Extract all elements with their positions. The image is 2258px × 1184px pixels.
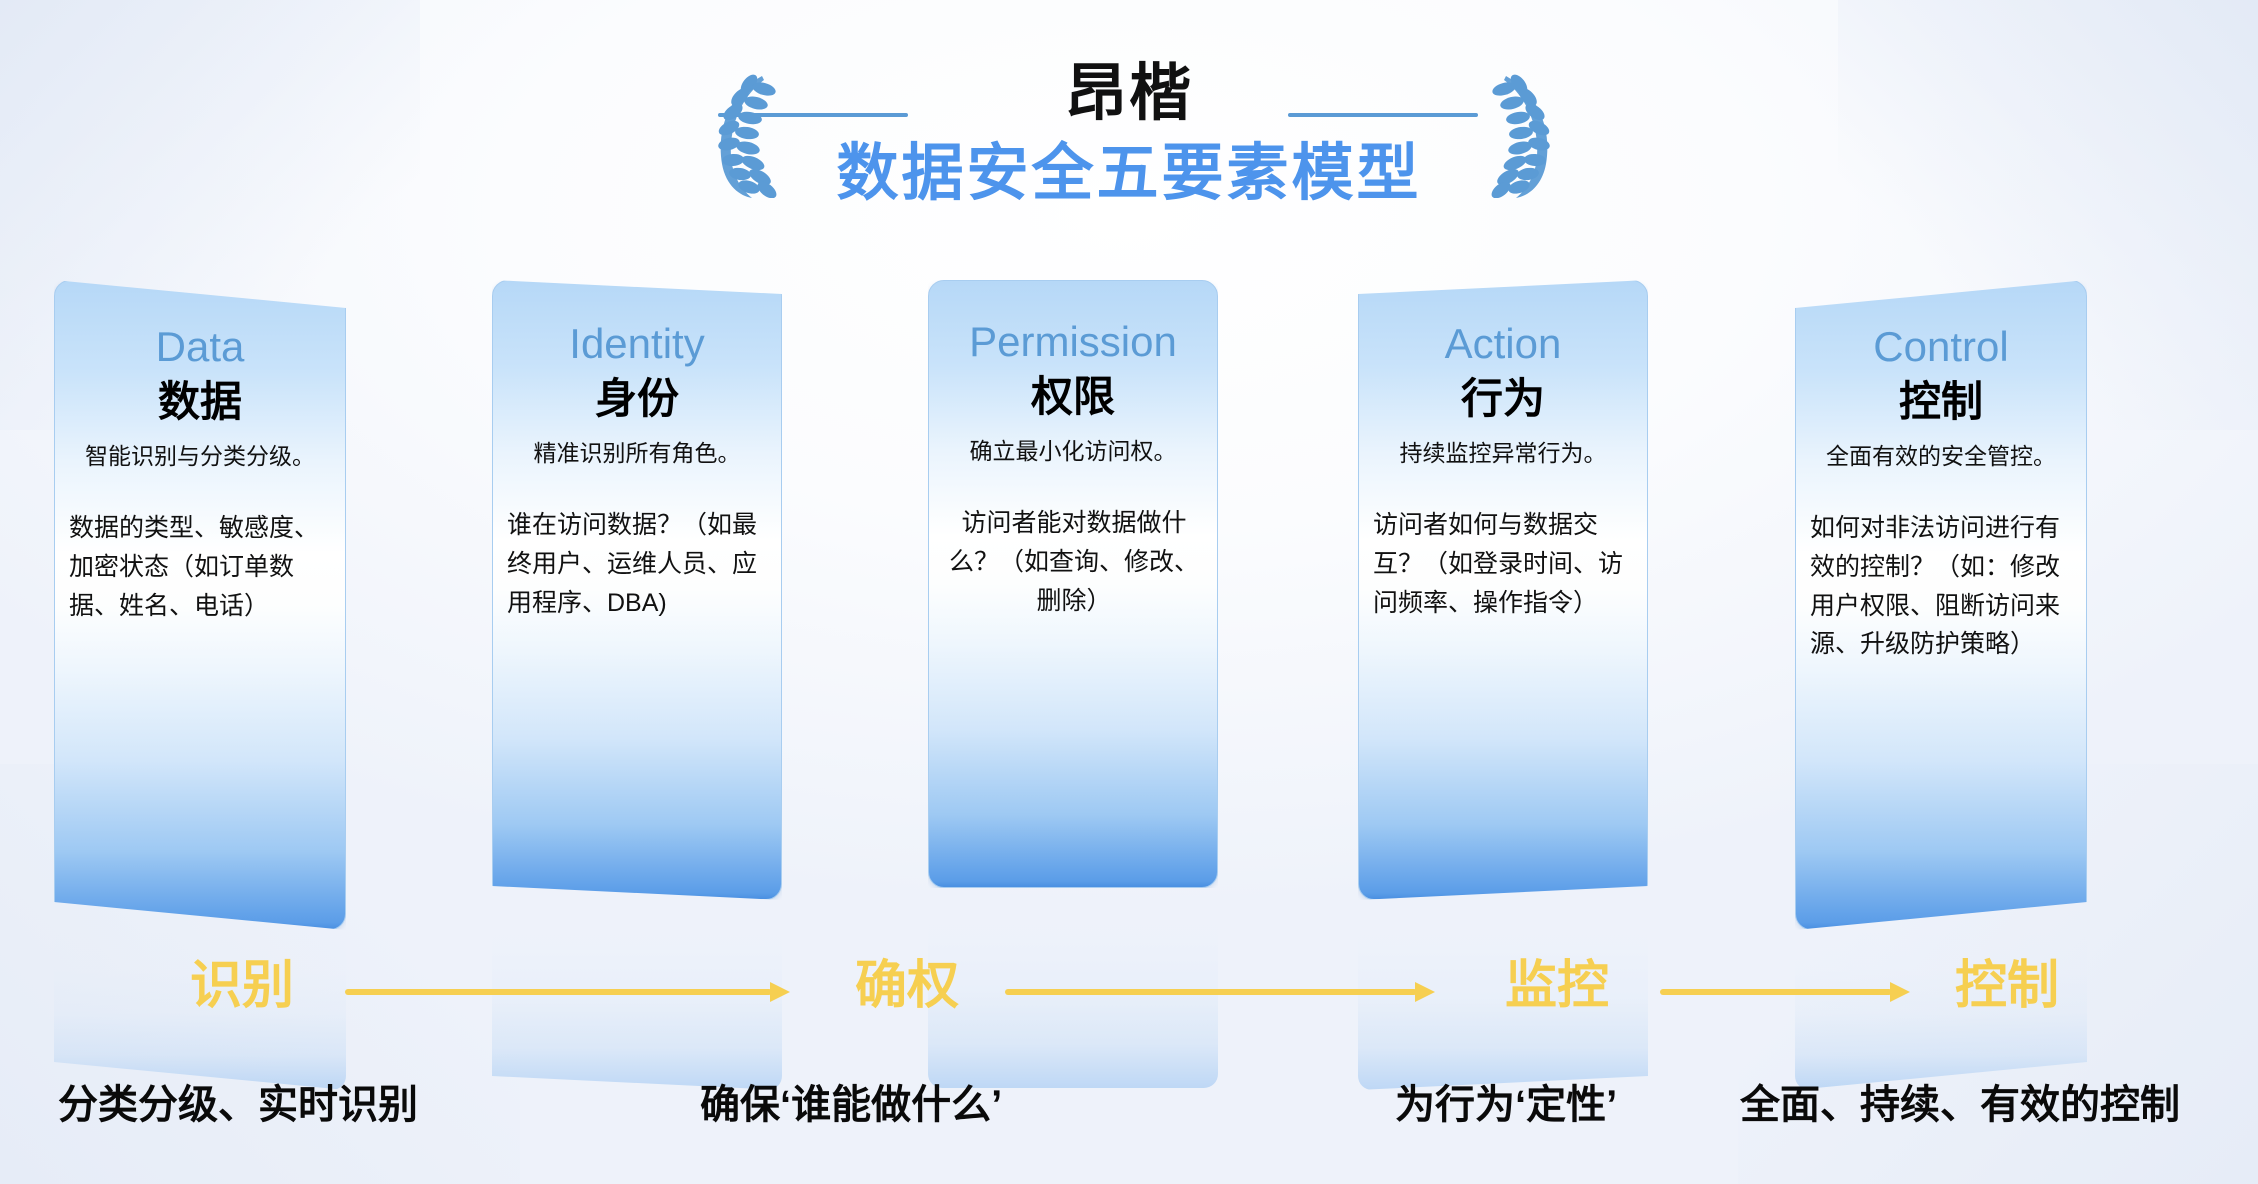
caption-text: 分类分级、实时识别 [58, 1085, 418, 1125]
flow-step-label: 确权 [855, 960, 959, 1012]
card-body: Action行为持续监控异常行为。访问者如何与数据交互？（如登录时间、访问频率、… [1359, 281, 1647, 899]
flow-arrow-icon [1005, 982, 1435, 1002]
card-surface: Action行为持续监控异常行为。访问者如何与数据交互？（如登录时间、访问频率、… [1358, 280, 1648, 900]
caption-text: 为行为‘定性’ [1395, 1085, 1617, 1125]
arrow-shaft [345, 989, 772, 995]
flow-step-label: 控制 [1955, 960, 2059, 1012]
arrow-head [1890, 982, 1910, 1002]
title-block: 昂楷 数据安全五要素模型 [0, 18, 2258, 198]
element-cards-row: Data数据智能识别与分类分级。数据的类型、敏感度、加密状态（如订单数据、姓名、… [0, 280, 2258, 940]
page-subtitle: 数据安全五要素模型 [0, 143, 2258, 205]
card-lead-text: 智能识别与分类分级。 [55, 441, 345, 472]
card-title-en: Data [55, 326, 345, 368]
caption-text: 全面、持续、有效的控制 [1740, 1085, 2180, 1125]
flow-arrow-icon [1660, 982, 1910, 1002]
card-lead-text: 全面有效的安全管控。 [1796, 441, 2086, 472]
process-flow-row: 识别确权监控控制 [0, 960, 2258, 1060]
card-title-en: Action [1359, 323, 1647, 365]
card-body: Permission权限确立最小化访问权。访问者能对数据做什么？（如查询、修改、… [929, 281, 1217, 887]
brand-title: 昂楷 [0, 63, 2258, 125]
flow-arrow-icon [345, 982, 790, 1002]
card-body: Data数据智能识别与分类分级。数据的类型、敏感度、加密状态（如订单数据、姓名、… [55, 281, 345, 929]
card-surface: Control控制全面有效的安全管控。如何对非法访问进行有效的控制？（如：修改用… [1795, 280, 2087, 930]
caption-text: 确保‘谁能做什么’ [700, 1085, 1002, 1125]
card-title-cn: 控制 [1796, 381, 2086, 423]
card-title-en: Permission [929, 321, 1217, 363]
card-detail-text: 访问者如何与数据交互？（如登录时间、访问频率、操作指令） [1373, 506, 1635, 622]
arrow-shaft [1005, 989, 1417, 995]
card-lead-text: 确立最小化访问权。 [929, 436, 1217, 467]
arrow-shaft [1660, 989, 1892, 995]
card-detail-text: 数据的类型、敏感度、加密状态（如订单数据、姓名、电话） [69, 509, 333, 625]
element-card[interactable]: Identity身份精准识别所有角色。谁在访问数据？（如最终用户、运维人员、应用… [492, 280, 782, 900]
card-lead-text: 持续监控异常行为。 [1359, 438, 1647, 469]
element-card[interactable]: Permission权限确立最小化访问权。访问者能对数据做什么？（如查询、修改、… [928, 280, 1218, 888]
card-title-en: Identity [493, 323, 781, 365]
element-card[interactable]: Control控制全面有效的安全管控。如何对非法访问进行有效的控制？（如：修改用… [1795, 280, 2087, 930]
caption-row: 分类分级、实时识别确保‘谁能做什么’为行为‘定性’全面、持续、有效的控制 [0, 1085, 2258, 1155]
card-surface: Permission权限确立最小化访问权。访问者能对数据做什么？（如查询、修改、… [928, 280, 1218, 888]
card-title-en: Control [1796, 326, 2086, 368]
card-detail-text: 访问者能对数据做什么？（如查询、修改、删除） [937, 504, 1211, 620]
flow-step-label: 识别 [190, 960, 294, 1012]
card-title-cn: 行为 [1359, 378, 1647, 420]
card-lead-text: 精准识别所有角色。 [493, 438, 781, 469]
element-card[interactable]: Action行为持续监控异常行为。访问者如何与数据交互？（如登录时间、访问频率、… [1358, 280, 1648, 900]
flow-step-label: 监控 [1505, 960, 1609, 1012]
card-detail-text: 谁在访问数据？（如最终用户、运维人员、应用程序、DBA) [507, 506, 769, 622]
card-title-cn: 权限 [929, 376, 1217, 418]
card-surface: Data数据智能识别与分类分级。数据的类型、敏感度、加密状态（如订单数据、姓名、… [54, 280, 346, 930]
card-detail-text: 如何对非法访问进行有效的控制？（如：修改用户权限、阻断访问来源、升级防护策略） [1810, 509, 2074, 664]
card-surface: Identity身份精准识别所有角色。谁在访问数据？（如最终用户、运维人员、应用… [492, 280, 782, 900]
card-body: Identity身份精准识别所有角色。谁在访问数据？（如最终用户、运维人员、应用… [493, 281, 781, 899]
card-title-cn: 数据 [55, 381, 345, 423]
element-card[interactable]: Data数据智能识别与分类分级。数据的类型、敏感度、加密状态（如订单数据、姓名、… [54, 280, 346, 930]
arrow-head [770, 982, 790, 1002]
card-body: Control控制全面有效的安全管控。如何对非法访问进行有效的控制？（如：修改用… [1796, 281, 2086, 929]
arrow-head [1415, 982, 1435, 1002]
card-title-cn: 身份 [493, 378, 781, 420]
